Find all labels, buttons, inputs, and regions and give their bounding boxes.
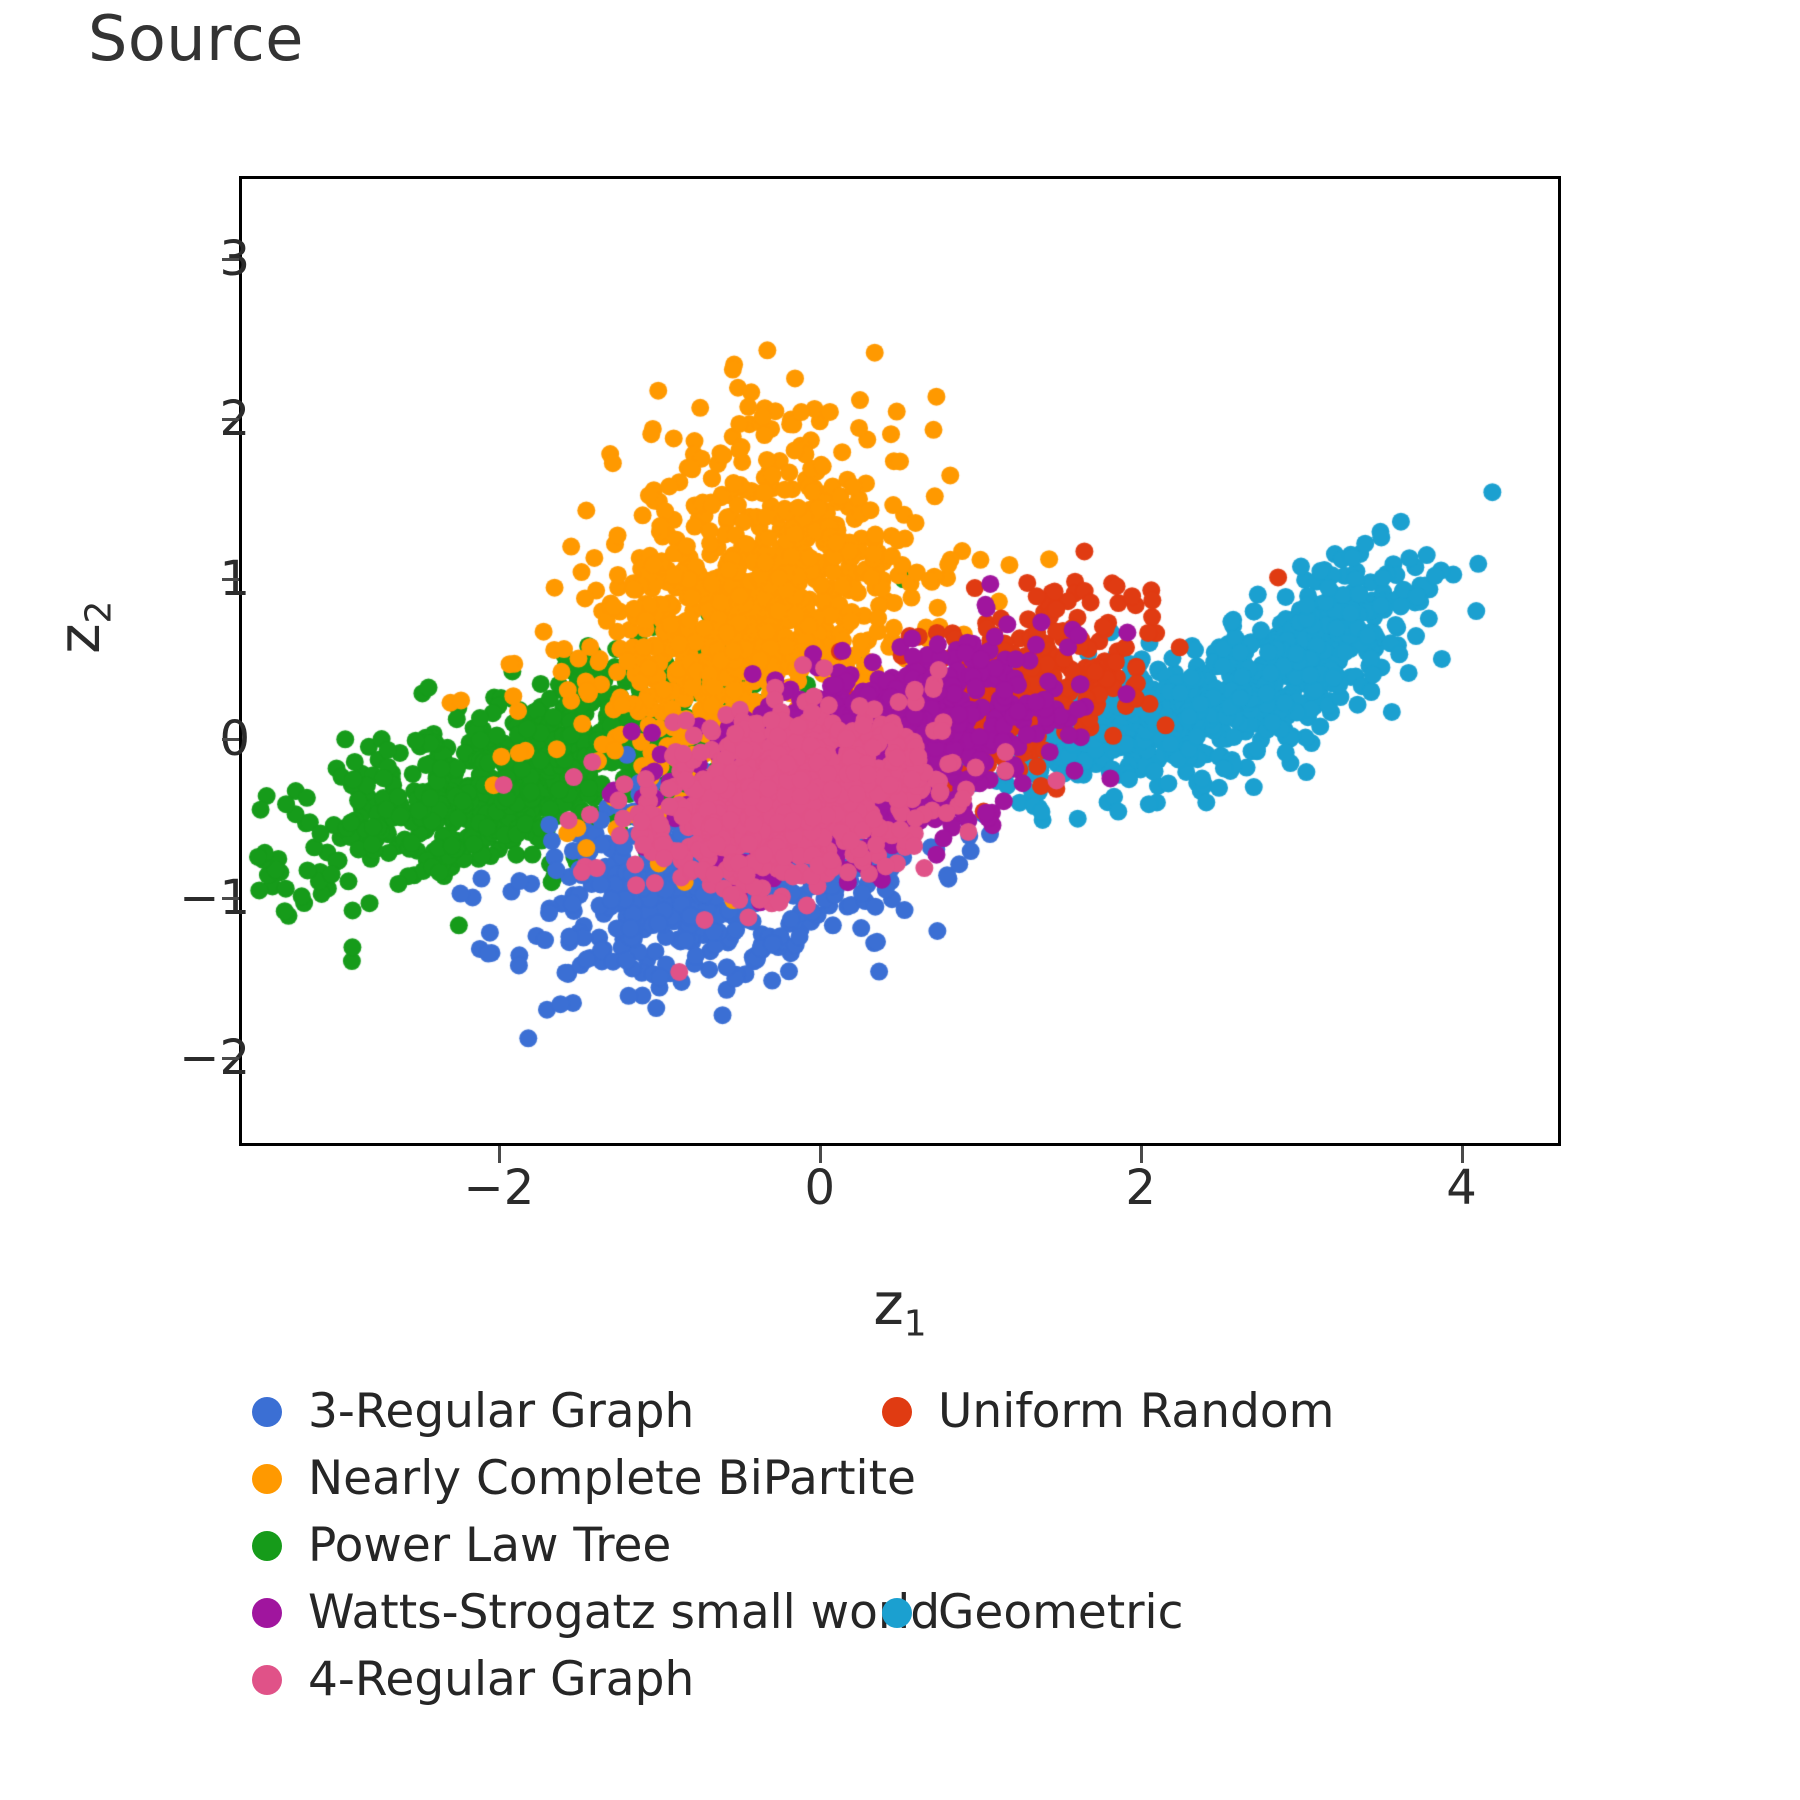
y-tick-mark: [222, 1057, 239, 1060]
legend-label: Watts-Strogatz small world: [308, 1589, 940, 1636]
chart-legend: 3-Regular GraphUniform RandomNearly Comp…: [252, 1378, 1652, 1713]
legend-item[interactable]: Geometric: [882, 1579, 1183, 1646]
legend-marker-icon: [252, 1598, 282, 1628]
x-tick-mark: [498, 1146, 501, 1163]
legend-row: 4-Regular Graph: [252, 1646, 1652, 1713]
x-tick-label: 2: [1071, 1160, 1211, 1216]
legend-row: 3-Regular GraphUniform Random: [252, 1378, 1652, 1445]
page-title: Source: [88, 8, 304, 70]
x-tick-label: 0: [750, 1160, 890, 1216]
legend-marker-icon: [252, 1464, 282, 1494]
legend-item[interactable]: Nearly Complete BiPartite: [252, 1445, 916, 1512]
y-tick-mark: [222, 738, 239, 741]
legend-label: Nearly Complete BiPartite: [308, 1455, 916, 1502]
y-axis-label-subscript: 2: [78, 601, 119, 624]
x-axis-label-base: z: [873, 1270, 903, 1338]
legend-item[interactable]: 4-Regular Graph: [252, 1646, 694, 1713]
legend-label: 3-Regular Graph: [308, 1388, 694, 1435]
x-tick-mark: [1140, 1146, 1143, 1163]
x-tick-mark: [1461, 1146, 1464, 1163]
legend-row: Watts-Strogatz small worldGeometric: [252, 1579, 1652, 1646]
y-axis-label: z2: [45, 527, 120, 727]
legend-item[interactable]: Watts-Strogatz small world: [252, 1579, 882, 1646]
legend-label: Uniform Random: [938, 1388, 1334, 1435]
legend-marker-icon: [252, 1665, 282, 1695]
legend-label: 4-Regular Graph: [308, 1656, 694, 1703]
legend-label: Geometric: [938, 1589, 1183, 1636]
legend-row: Power Law Tree: [252, 1512, 1652, 1579]
scatter-canvas: [242, 179, 1558, 1143]
y-axis-label-base: z: [45, 623, 113, 653]
x-tick-label: 4: [1392, 1160, 1532, 1216]
legend-item[interactable]: Uniform Random: [882, 1378, 1334, 1445]
y-tick-mark: [222, 897, 239, 900]
legend-item[interactable]: 3-Regular Graph: [252, 1378, 882, 1445]
legend-row: Nearly Complete BiPartite: [252, 1445, 1652, 1512]
legend-marker-icon: [882, 1598, 912, 1628]
y-tick-mark: [222, 578, 239, 581]
legend-item[interactable]: Power Law Tree: [252, 1512, 671, 1579]
x-axis-label-subscript: 1: [904, 1304, 927, 1345]
x-axis-label: z1: [0, 1270, 1800, 1345]
y-tick-mark: [222, 258, 239, 261]
legend-marker-icon: [252, 1397, 282, 1427]
legend-label: Power Law Tree: [308, 1522, 671, 1569]
y-tick-mark: [222, 418, 239, 421]
scatter-plot-area: [239, 176, 1561, 1146]
x-tick-label: −2: [429, 1160, 569, 1216]
legend-marker-icon: [252, 1531, 282, 1561]
legend-marker-icon: [882, 1397, 912, 1427]
x-tick-mark: [819, 1146, 822, 1163]
